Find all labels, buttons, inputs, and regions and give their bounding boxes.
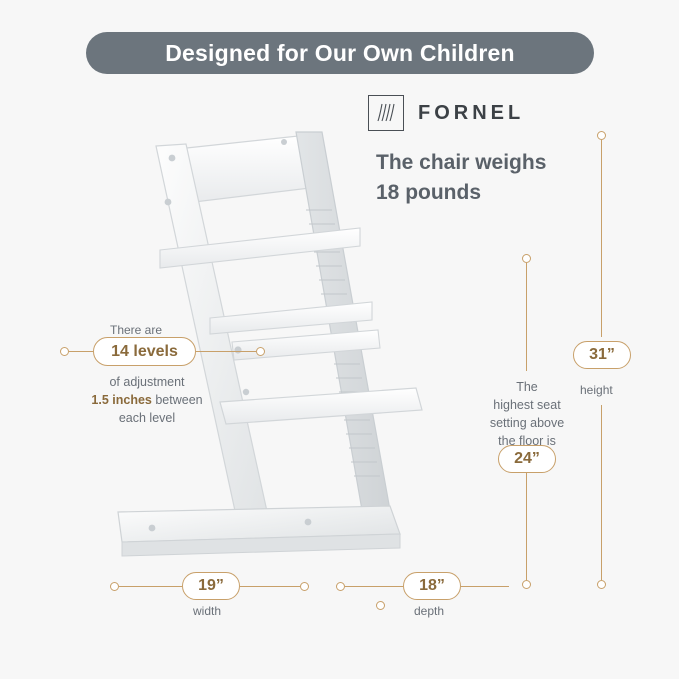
width-line-right	[240, 586, 300, 587]
levels-anchor-dot-right	[256, 347, 265, 356]
depth-value: 18”	[419, 577, 445, 595]
levels-lead-text: There are	[110, 322, 162, 339]
depth-label: depth	[414, 603, 444, 620]
seat-height-value: 24”	[514, 450, 540, 468]
banner-title: Designed for Our Own Children	[165, 40, 515, 67]
total-height-top-dot	[597, 131, 606, 140]
seat-height-line-1: The	[462, 378, 592, 396]
levels-sub-line-2: 1.5 inches between	[78, 391, 216, 409]
infographic-canvas: Designed for Our Own Children FORNEL The…	[0, 0, 679, 679]
width-right-dot	[300, 582, 309, 591]
seat-height-top-dot	[522, 254, 531, 263]
seat-height-line-lower	[526, 473, 527, 580]
depth-line-left	[345, 586, 403, 587]
total-height-bottom-dot	[597, 580, 606, 589]
depth-left-dot	[336, 582, 345, 591]
levels-sub-rest: between	[152, 393, 203, 407]
depth-line-right	[461, 586, 509, 587]
total-height-line-lower	[601, 405, 602, 580]
levels-leader-line-left	[69, 351, 93, 352]
width-left-dot	[110, 582, 119, 591]
depth-right-dot	[376, 601, 385, 610]
seat-height-caption: The highest seat setting above the floor…	[462, 378, 592, 450]
seat-height-line-3: setting above	[462, 414, 592, 432]
seat-height-bottom-dot	[522, 580, 531, 589]
width-value-pill: 19”	[182, 572, 240, 600]
total-height-label: height	[580, 382, 613, 399]
levels-sub-bold: 1.5 inches	[91, 393, 151, 407]
levels-value: 14 levels	[111, 343, 178, 361]
width-label: width	[193, 603, 221, 620]
levels-sub-text: of adjustment 1.5 inches between each le…	[78, 373, 216, 427]
header-banner: Designed for Our Own Children	[86, 32, 594, 74]
levels-value-pill: 14 levels	[93, 337, 196, 366]
seat-height-line-upper	[526, 263, 527, 371]
depth-value-pill: 18”	[403, 572, 461, 600]
levels-anchor-dot-left	[60, 347, 69, 356]
seat-height-value-pill: 24”	[498, 445, 556, 473]
width-line-left	[119, 586, 182, 587]
width-value: 19”	[198, 577, 224, 595]
total-height-value-pill: 31”	[573, 341, 631, 369]
levels-sub-line-3: each level	[78, 409, 216, 427]
total-height-line-upper	[601, 140, 602, 337]
levels-leader-line-right	[196, 351, 256, 352]
seat-height-line-2: highest seat	[462, 396, 592, 414]
total-height-value: 31”	[589, 346, 615, 364]
levels-sub-line-1: of adjustment	[78, 373, 216, 391]
